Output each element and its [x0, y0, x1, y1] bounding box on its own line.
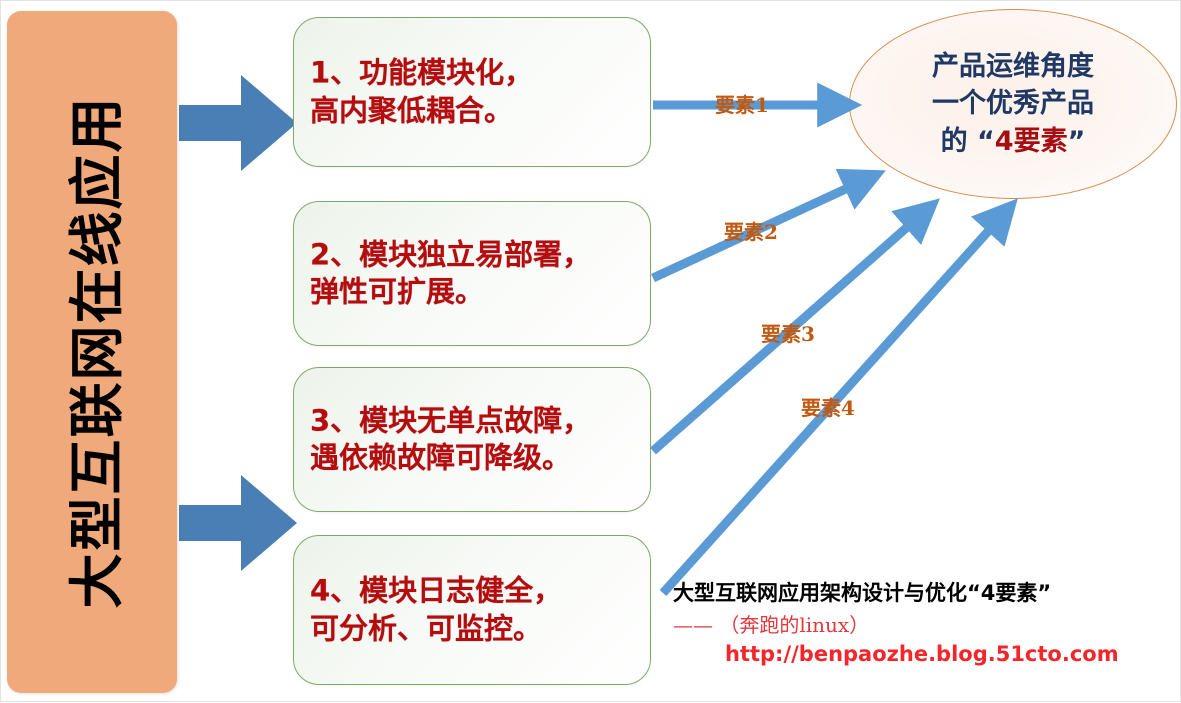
goal-ellipse[interactable]: 产品运维角度 一个优秀产品 的 “4要素”: [849, 9, 1177, 199]
goal-line-2: 一个优秀产品: [932, 85, 1094, 122]
diagram-canvas: 大型互联网在线应用 1、功能模块化， 高内聚低耦合。 2、模块独立易部署， 弹性…: [0, 0, 1181, 702]
element-box-2-text: 2、模块独立易部署， 弹性可扩展。: [310, 236, 642, 311]
credit-title: 大型互联网应用架构设计与优化“4要素”: [673, 579, 1173, 607]
element-box-3-text: 3、模块无单点故障， 遇依赖故障可降级。: [310, 402, 642, 477]
element-box-4[interactable]: 4、模块日志健全， 可分析、可监控。: [293, 535, 651, 685]
connector-label-3: 要素3: [761, 318, 815, 347]
side-title-label: 大型互联网在线应用: [52, 95, 132, 608]
block-arrow-top: [179, 73, 299, 173]
element-box-1-text: 1、功能模块化， 高内聚低耦合。: [310, 54, 642, 129]
connector-label-1: 要素1: [715, 89, 769, 118]
credit-block: 大型互联网应用架构设计与优化“4要素” —— （奔跑的linux） http:/…: [673, 579, 1173, 669]
credit-url[interactable]: http://benpaozhe.blog.51cto.com: [725, 640, 1173, 668]
element-box-3[interactable]: 3、模块无单点故障， 遇依赖故障可降级。: [293, 367, 651, 512]
goal-line-3-highlight: 4要素: [995, 126, 1068, 157]
connector-label-2: 要素2: [724, 216, 778, 245]
connector-label-4: 要素4: [801, 392, 855, 421]
element-box-4-text: 4、模块日志健全， 可分析、可监控。: [310, 572, 642, 647]
element-box-1[interactable]: 1、功能模块化， 高内聚低耦合。: [293, 17, 651, 167]
goal-line-3-suffix: ”: [1068, 126, 1086, 157]
goal-line-1: 产品运维角度: [932, 48, 1094, 85]
credit-author: —— （奔跑的linux）: [673, 611, 1173, 640]
element-box-2[interactable]: 2、模块独立易部署， 弹性可扩展。: [293, 201, 651, 346]
side-title-panel: 大型互联网在线应用: [7, 11, 177, 693]
goal-line-3: 的 “4要素”: [932, 123, 1094, 160]
goal-line-3-prefix: 的 “: [941, 126, 995, 157]
block-arrow-bottom: [179, 473, 299, 573]
goal-ellipse-text: 产品运维角度 一个优秀产品 的 “4要素”: [932, 48, 1094, 160]
